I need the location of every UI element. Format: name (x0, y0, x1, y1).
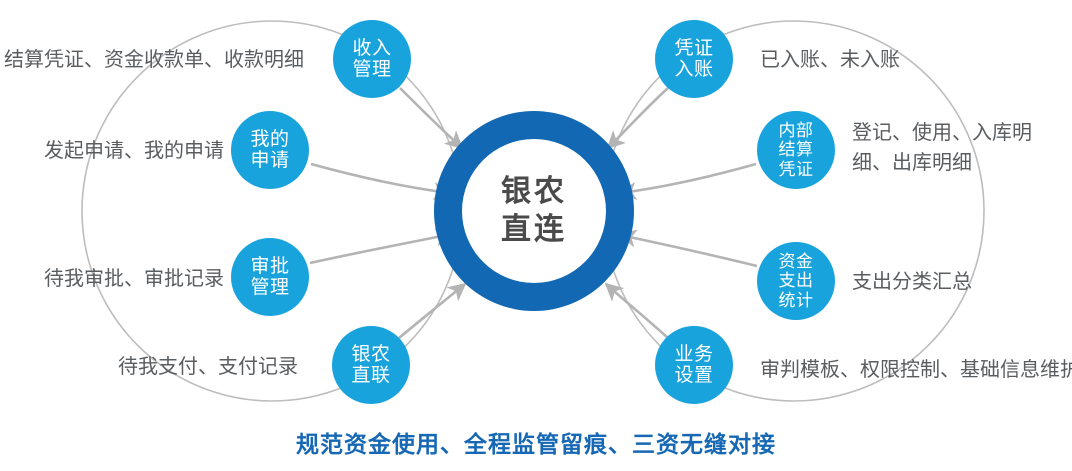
node-label-line: 凭证 (779, 160, 814, 179)
desc-business-settings: 审判模板、权限控制、基础信息维护 (760, 355, 1072, 385)
connector-settings-to-hub (606, 284, 668, 338)
node-label-line: 资金 (779, 252, 814, 271)
connector-income-to-hub (400, 88, 462, 148)
desc-bank-direct-connect: 待我支付、支付记录 (118, 352, 298, 382)
node-label-line: 审批 (250, 256, 289, 277)
diagram-canvas: 银农 直连 收入 管理 我的 申请 审批 管理 银农 直联 凭证 入账 内部 结… (0, 0, 1072, 471)
node-approval-management[interactable]: 审批 管理 (231, 238, 309, 316)
desc-approval-management: 待我审批、审批记录 (44, 264, 224, 294)
hub-center: 银农 直连 (462, 139, 606, 283)
node-business-settings[interactable]: 业务 设置 (655, 326, 733, 404)
node-label-line: 结算 (779, 140, 814, 159)
hub-ring: 银农 直连 (434, 111, 634, 311)
desc-fund-expenditure-statistics: 支出分类汇总 (852, 267, 972, 297)
node-label-line: 业务 (674, 344, 713, 365)
connector-application-to-hub (311, 164, 450, 193)
node-label-line: 设置 (674, 365, 713, 386)
connector-approval-to-hub (310, 234, 452, 263)
node-label-line: 我的 (250, 129, 289, 150)
node-internal-settlement-voucher[interactable]: 内部 结算 凭证 (757, 111, 835, 189)
connector-expenditure-to-hub (620, 235, 757, 266)
node-label-line: 支出 (779, 271, 814, 290)
node-label-line: 申请 (250, 150, 289, 171)
connector-direct-to-hub (399, 284, 465, 338)
hub-label-line2: 直连 (501, 211, 567, 249)
connector-settlement-to-hub (620, 164, 756, 193)
node-label-line: 内部 (779, 121, 814, 140)
node-income-management[interactable]: 收入 管理 (333, 20, 411, 98)
node-my-application[interactable]: 我的 申请 (231, 111, 309, 189)
node-label-line: 收入 (352, 38, 391, 59)
desc-my-application: 发起申请、我的申请 (44, 136, 224, 166)
diagram-caption: 规范资金使用、全程监管留痕、三资无缝对接 (0, 425, 1072, 459)
node-fund-expenditure-statistics[interactable]: 资金 支出 统计 (757, 242, 835, 320)
connector-voucher-to-hub (608, 88, 668, 148)
node-label-line: 统计 (779, 291, 814, 310)
desc-income-management: 结算凭证、资金收款单、收款明细 (4, 45, 304, 75)
node-label-line: 管理 (250, 277, 289, 298)
desc-voucher-posting: 已入账、未入账 (760, 45, 900, 75)
node-label-line: 入账 (674, 59, 713, 80)
desc-internal-settlement-voucher: 登记、使用、入库明细、出库明细 (852, 118, 1070, 178)
node-voucher-posting[interactable]: 凭证 入账 (655, 20, 733, 98)
node-label-line: 直联 (351, 365, 390, 386)
node-bank-direct-connect[interactable]: 银农 直联 (332, 326, 410, 404)
node-label-line: 管理 (352, 59, 391, 80)
hub-label-line1: 银农 (501, 173, 567, 211)
node-label-line: 凭证 (674, 38, 713, 59)
node-label-line: 银农 (351, 344, 390, 365)
